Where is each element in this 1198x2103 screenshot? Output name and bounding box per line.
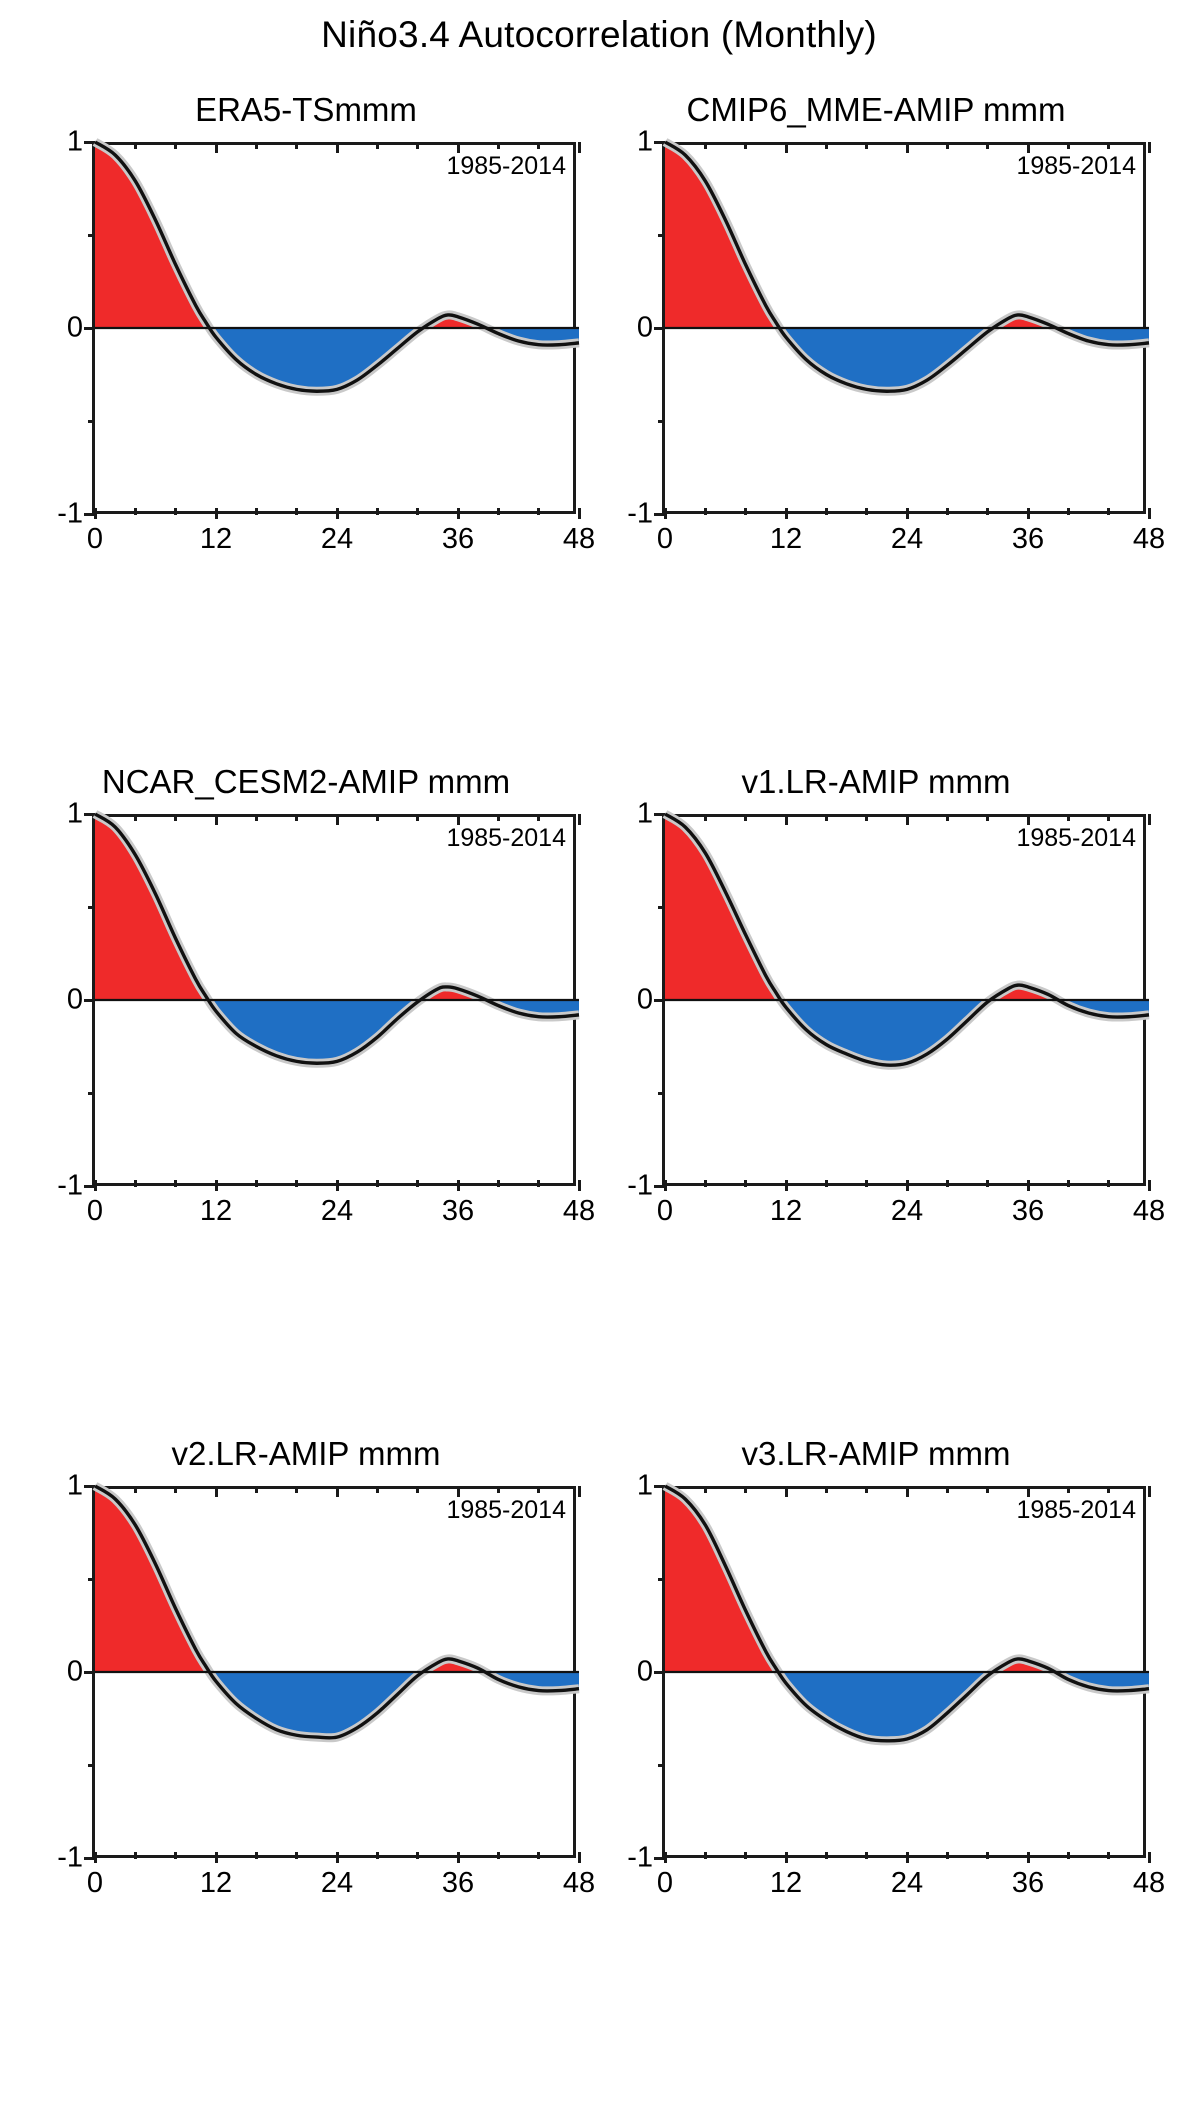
- period-annotation: 1985-2014: [446, 152, 566, 181]
- x-axis-tick-label: 36: [1012, 1195, 1044, 1228]
- y-axis-minor-tick: [88, 1092, 95, 1095]
- x-axis-tick-label: 36: [442, 1867, 474, 1900]
- panel-title: CMIP6_MME-AMIP mmm: [596, 91, 1156, 129]
- autocorrelation-curve: [665, 142, 1149, 514]
- x-axis-tick-label: 36: [1012, 523, 1044, 556]
- x-axis-tick-label: 0: [657, 1195, 673, 1228]
- y-axis-tick-label: 1: [67, 798, 83, 831]
- x-axis-tick-label: 48: [563, 523, 595, 556]
- y-axis-tick-mark: [654, 1671, 665, 1674]
- y-axis-tick-mark: [654, 999, 665, 1002]
- panel-title: v3.LR-AMIP mmm: [596, 1435, 1156, 1473]
- x-axis-tick-label: 36: [442, 1195, 474, 1228]
- y-axis-tick-label: 1: [67, 126, 83, 159]
- x-axis-tick-label: 24: [891, 1195, 923, 1228]
- x-axis-tick-label: 24: [321, 523, 353, 556]
- x-axis-tick-label: 48: [1133, 1867, 1165, 1900]
- x-axis-tick-label: 12: [200, 1867, 232, 1900]
- y-axis-tick-label: -1: [627, 498, 653, 531]
- plot-frame: 10-10122436481985-2014: [92, 814, 576, 1186]
- plot-frame: 10-10122436481985-2014: [92, 142, 576, 514]
- chart-panel: CMIP6_MME-AMIP mmm10-10122436481985-2014: [596, 86, 1156, 686]
- period-annotation: 1985-2014: [1016, 152, 1136, 181]
- y-axis-tick-label: 0: [637, 984, 653, 1017]
- y-axis-tick-label: 0: [67, 312, 83, 345]
- y-axis-minor-tick: [88, 420, 95, 423]
- plot-frame: 10-10122436481985-2014: [662, 1486, 1146, 1858]
- period-annotation: 1985-2014: [446, 1496, 566, 1525]
- x-axis-tick-label: 48: [1133, 523, 1165, 556]
- chart-panel: v1.LR-AMIP mmm10-10122436481985-2014: [596, 758, 1156, 1358]
- panel-title: NCAR_CESM2-AMIP mmm: [26, 763, 586, 801]
- y-axis-tick-label: -1: [627, 1170, 653, 1203]
- panel-title: v2.LR-AMIP mmm: [26, 1435, 586, 1473]
- figure-title: Niño3.4 Autocorrelation (Monthly): [0, 14, 1198, 56]
- figure-canvas: Niño3.4 Autocorrelation (Monthly) ERA5-T…: [0, 0, 1198, 2103]
- y-axis-minor-tick: [88, 906, 95, 909]
- plot-frame: 10-10122436481985-2014: [662, 814, 1146, 1186]
- y-axis-tick-mark: [84, 1671, 95, 1674]
- y-axis-tick-label: -1: [57, 1170, 83, 1203]
- x-axis-tick-label: 12: [770, 1195, 802, 1228]
- chart-panel: v2.LR-AMIP mmm10-10122436481985-2014: [26, 1430, 586, 2030]
- x-axis-tick-label: 0: [87, 1195, 103, 1228]
- y-axis-minor-tick: [658, 420, 665, 423]
- y-axis-tick-label: 1: [637, 1470, 653, 1503]
- y-axis-tick-label: 0: [637, 1656, 653, 1689]
- period-annotation: 1985-2014: [1016, 1496, 1136, 1525]
- y-axis-tick-label: 0: [67, 984, 83, 1017]
- chart-panel: NCAR_CESM2-AMIP mmm10-10122436481985-201…: [26, 758, 586, 1358]
- chart-panel: v3.LR-AMIP mmm10-10122436481985-2014: [596, 1430, 1156, 2030]
- autocorrelation-curve: [95, 142, 579, 514]
- x-axis-tick-label: 12: [200, 523, 232, 556]
- y-axis-tick-label: 1: [637, 798, 653, 831]
- x-axis-tick-label: 24: [891, 1867, 923, 1900]
- autocorrelation-curve: [665, 1486, 1149, 1858]
- y-axis-tick-label: 0: [637, 312, 653, 345]
- x-axis-tick-label: 0: [87, 1867, 103, 1900]
- panel-title: ERA5-TSmmm: [26, 91, 586, 129]
- y-axis-minor-tick: [658, 234, 665, 237]
- plot-frame: 10-10122436481985-2014: [662, 142, 1146, 514]
- plot-frame: 10-10122436481985-2014: [92, 1486, 576, 1858]
- x-axis-tick-label: 12: [770, 523, 802, 556]
- autocorrelation-curve: [95, 814, 579, 1186]
- y-axis-minor-tick: [658, 906, 665, 909]
- y-axis-tick-label: -1: [627, 1842, 653, 1875]
- x-axis-tick-label: 48: [563, 1195, 595, 1228]
- y-axis-minor-tick: [88, 234, 95, 237]
- period-annotation: 1985-2014: [1016, 824, 1136, 853]
- chart-panel: ERA5-TSmmm10-10122436481985-2014: [26, 86, 586, 686]
- y-axis-tick-mark: [84, 999, 95, 1002]
- autocorrelation-curve: [95, 1486, 579, 1858]
- panel-title: v1.LR-AMIP mmm: [596, 763, 1156, 801]
- y-axis-tick-label: -1: [57, 1842, 83, 1875]
- y-axis-minor-tick: [658, 1578, 665, 1581]
- x-axis-tick-label: 12: [770, 1867, 802, 1900]
- x-axis-tick-label: 24: [321, 1195, 353, 1228]
- x-axis-tick-label: 36: [442, 523, 474, 556]
- y-axis-minor-tick: [88, 1578, 95, 1581]
- y-axis-minor-tick: [88, 1764, 95, 1767]
- y-axis-minor-tick: [658, 1764, 665, 1767]
- x-axis-tick-label: 48: [563, 1867, 595, 1900]
- y-axis-tick-label: 1: [637, 126, 653, 159]
- y-axis-tick-mark: [654, 327, 665, 330]
- y-axis-tick-mark: [84, 327, 95, 330]
- x-axis-tick-label: 0: [657, 1867, 673, 1900]
- y-axis-tick-label: 1: [67, 1470, 83, 1503]
- y-axis-minor-tick: [658, 1092, 665, 1095]
- x-axis-tick-label: 24: [321, 1867, 353, 1900]
- autocorrelation-curve: [665, 814, 1149, 1186]
- x-axis-tick-label: 48: [1133, 1195, 1165, 1228]
- x-axis-tick-label: 12: [200, 1195, 232, 1228]
- x-axis-tick-label: 0: [657, 523, 673, 556]
- period-annotation: 1985-2014: [446, 824, 566, 853]
- x-axis-tick-label: 0: [87, 523, 103, 556]
- x-axis-tick-label: 24: [891, 523, 923, 556]
- y-axis-tick-label: -1: [57, 498, 83, 531]
- y-axis-tick-label: 0: [67, 1656, 83, 1689]
- x-axis-tick-label: 36: [1012, 1867, 1044, 1900]
